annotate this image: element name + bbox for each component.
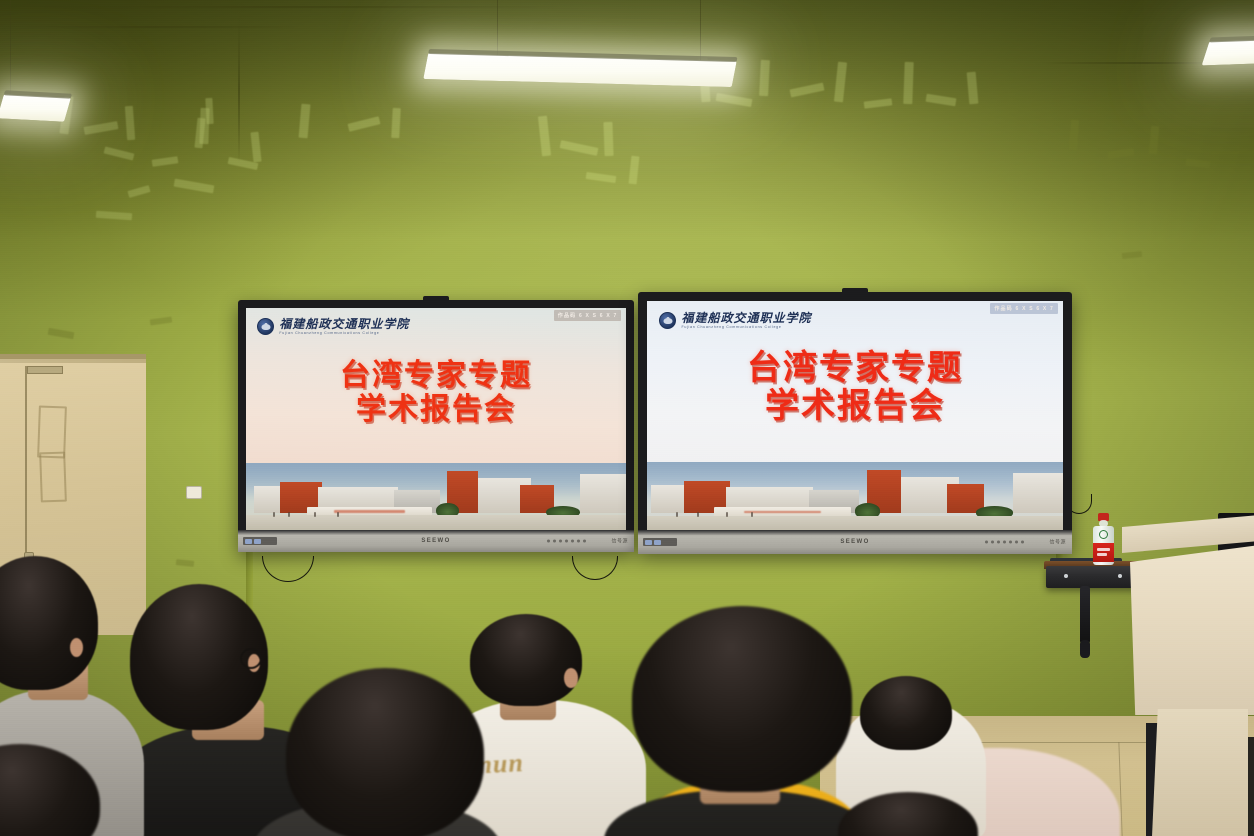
- slide-title-right: 台湾专家专题 学术报告会: [647, 340, 1063, 462]
- bottle-logo-icon: [1099, 530, 1108, 539]
- slide-right: 福建船政交通职业学院 Fujian Chuanzheng Communicati…: [647, 301, 1063, 531]
- light-wire: [700, 0, 701, 62]
- watermark-badge: 作品码 6 X S 6 X 7: [990, 303, 1058, 314]
- photo-person: [288, 512, 290, 517]
- light-wire: [497, 0, 498, 58]
- school-name-en: Fujian Chuanzheng Communications College: [279, 332, 409, 336]
- student-7-hair: [860, 676, 952, 750]
- school-crest-icon: [659, 312, 676, 329]
- slide-header-left: 福建船政交通职业学院 Fujian Chuanzheng Communicati…: [246, 308, 626, 346]
- bezel-indicator-dots: [985, 541, 1024, 544]
- student-1-ear: [70, 638, 83, 657]
- slide-title-left: 台湾专家专题 学术报告会: [246, 346, 626, 464]
- photo-person: [676, 512, 678, 517]
- school-crest-icon: [257, 318, 274, 335]
- student-3-hair: [286, 668, 484, 836]
- photo-ground: [246, 515, 626, 530]
- photo-building: [651, 485, 688, 513]
- campus-photo-right: [647, 462, 1063, 531]
- photo-person: [726, 512, 728, 517]
- bezel-indicator-dots: [547, 540, 586, 543]
- student-5-hair: [632, 606, 852, 792]
- shelf-indicator: [1064, 574, 1068, 578]
- photo-person: [751, 512, 753, 517]
- door-scuff-mark: [39, 452, 67, 503]
- photo-person: [697, 512, 699, 517]
- photo-ground: [647, 516, 1063, 531]
- photo-building: [580, 474, 626, 513]
- slide-title-line2: 学术报告会: [356, 394, 516, 426]
- bottle-label-line: [1097, 548, 1110, 551]
- bezel-ports-left: [243, 537, 277, 545]
- photo-sign-calligraphy: [334, 510, 404, 512]
- bezel-status-label: 信号源: [611, 538, 628, 545]
- left-display[interactable]: 福建船政交通职业学院 Fujian Chuanzheng Communicati…: [238, 300, 634, 552]
- podium-front-panel: [1130, 545, 1254, 715]
- bottle-label: [1093, 543, 1114, 562]
- podium-base: [1152, 709, 1248, 836]
- school-name-en: Fujian Chuanzheng Communications College: [681, 326, 811, 330]
- ceiling-light-right: [1202, 39, 1254, 66]
- photo-sign-calligraphy: [744, 511, 821, 513]
- photo-person: [273, 512, 275, 517]
- campus-photo-left: [246, 463, 626, 530]
- right-display[interactable]: 福建船政交通职业学院 Fujian Chuanzheng Communicati…: [638, 292, 1072, 554]
- slide-title-line2: 学术报告会: [765, 389, 945, 426]
- left-display-screen[interactable]: 福建船政交通职业学院 Fujian Chuanzheng Communicati…: [246, 308, 626, 530]
- ceiling-light-left: [0, 94, 71, 122]
- student-4-ear: [564, 668, 578, 688]
- light-wire: [10, 0, 11, 100]
- bottle-label-line: [1097, 553, 1107, 556]
- display-brand-left: SEEWO: [421, 538, 450, 544]
- student-4-hair: [470, 614, 582, 706]
- photo-building: [1013, 473, 1063, 513]
- slide-title-line1: 台湾专家专题: [340, 360, 532, 392]
- bezel-ports-left: [643, 538, 677, 546]
- microphone-holder[interactable]: [1080, 586, 1090, 644]
- school-name-cn: 福建船政交通职业学院: [681, 312, 811, 324]
- slide-left: 福建船政交通职业学院 Fujian Chuanzheng Communicati…: [246, 308, 626, 530]
- student-2-glasses: [240, 648, 262, 669]
- slide-title-line1: 台湾专家专题: [747, 351, 963, 388]
- display-brand-right: SEEWO: [840, 539, 869, 545]
- left-display-bezel: SEEWO 信号源: [238, 530, 634, 552]
- display-camera-left: [423, 296, 449, 301]
- water-bottle[interactable]: [1092, 513, 1115, 565]
- door-closer: [27, 366, 63, 374]
- slide-header-right: 福建船政交通职业学院 Fujian Chuanzheng Communicati…: [647, 301, 1063, 340]
- right-display-screen[interactable]: 福建船政交通职业学院 Fujian Chuanzheng Communicati…: [647, 301, 1063, 531]
- lectern-podium[interactable]: [1122, 527, 1254, 836]
- door-scuff-mark: [37, 406, 67, 459]
- light-switch[interactable]: [186, 486, 202, 499]
- bezel-status-label: 信号源: [1049, 539, 1066, 546]
- display-camera-right: [842, 288, 868, 293]
- school-name-cn: 福建船政交通职业学院: [279, 318, 409, 330]
- photo-person: [337, 512, 339, 517]
- lecture-hall-photo: 福建船政交通职业学院 Fujian Chuanzheng Communicati…: [0, 0, 1254, 836]
- right-display-bezel: SEEWO 信号源: [638, 530, 1072, 554]
- watermark-badge: 作品码 6 X S 6 X 7: [554, 310, 622, 321]
